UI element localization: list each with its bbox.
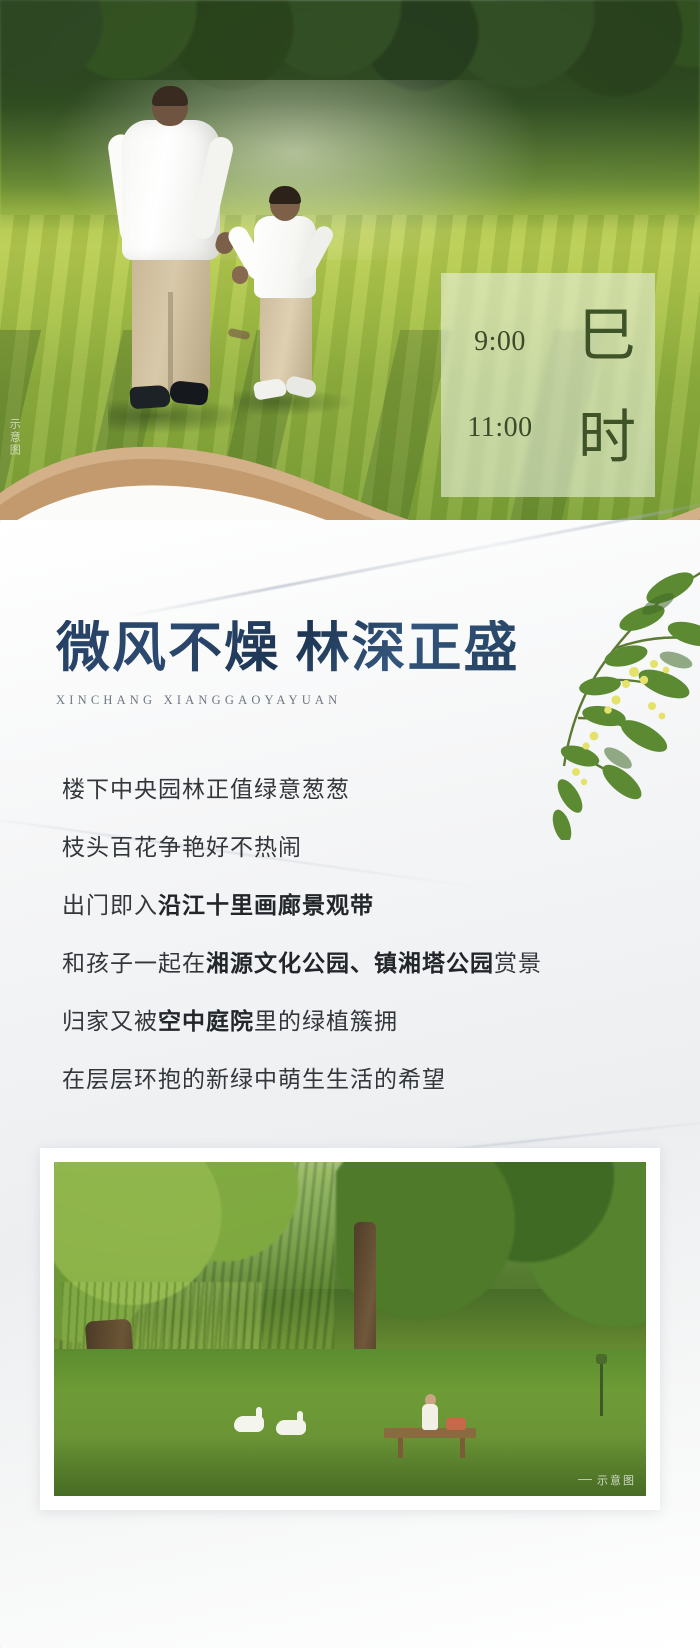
body-line-emphasis: 沿江十里画廊景观带 <box>158 892 374 918</box>
watermark-dash-icon <box>578 1479 592 1480</box>
bottom-photo-watermark-label: 示意图 <box>597 1475 636 1487</box>
child-trousers <box>260 292 312 386</box>
body-line-text: 赏景 <box>494 950 542 976</box>
photo-right-canopy <box>336 1162 646 1348</box>
body-line: 出门即入沿江十里画廊景观带 <box>62 894 642 917</box>
bottom-photo-card: 示意图 <box>40 1148 660 1510</box>
body-line-text: 里的绿植簇拥 <box>254 1008 398 1034</box>
body-line: 在层层环抱的新绿中萌生生活的希望 <box>62 1068 642 1091</box>
body-line: 和孩子一起在湘源文化公园、镇湘塔公园赏景 <box>62 952 642 975</box>
photo-bench-leg <box>398 1438 403 1458</box>
father-hair <box>152 86 188 106</box>
photo-person-body <box>422 1404 438 1430</box>
body-line-text: 归家又被 <box>62 1008 158 1034</box>
child-figure <box>240 188 350 428</box>
page-title: 微风不燥 林深正盛 <box>56 620 520 677</box>
photo-bench-leg <box>460 1438 465 1458</box>
body-line-text: 在层层环抱的新绿中萌生生活的希望 <box>62 1066 446 1092</box>
osmanthus-branch-icon <box>466 560 700 840</box>
father-right-shoe <box>169 380 209 406</box>
father-left-shoe <box>129 385 170 410</box>
bottom-photo-watermark: 示意图 <box>578 1472 636 1488</box>
body-line-text: 楼下中央园林正值绿意葱葱 <box>62 776 350 802</box>
photo-bag <box>446 1418 466 1430</box>
photo-person <box>422 1394 438 1434</box>
body-line: 归家又被空中庭院里的绿植簇拥 <box>62 1010 642 1033</box>
photo-swan <box>276 1420 306 1435</box>
photo-lamp-post <box>600 1362 603 1416</box>
body-line-text: 和孩子一起在 <box>62 950 206 976</box>
child-hand <box>232 266 248 284</box>
photo-lawn-shade <box>54 1389 646 1496</box>
body-line-text: 出门即入 <box>62 892 158 918</box>
photo-swan <box>234 1416 264 1432</box>
subtitle-pinyin: XINCHANG XIANGGAOYAYUAN <box>56 693 520 708</box>
child-hair <box>269 186 301 204</box>
father-figure <box>108 86 238 446</box>
body-line-text: 枝头百花争艳好不热闹 <box>62 834 302 860</box>
shichen-character-top: 巳 <box>578 307 636 365</box>
body-line-emphasis: 湘源文化公园、镇湘塔公园 <box>206 950 494 976</box>
body-line-emphasis: 空中庭院 <box>158 1008 254 1034</box>
father-trousers <box>132 252 210 392</box>
section-heading-block: 微风不燥 林深正盛 XINCHANG XIANGGAOYAYUAN <box>56 620 520 708</box>
start-time: 9:00 <box>474 326 526 358</box>
park-photo: 示意图 <box>54 1162 646 1496</box>
